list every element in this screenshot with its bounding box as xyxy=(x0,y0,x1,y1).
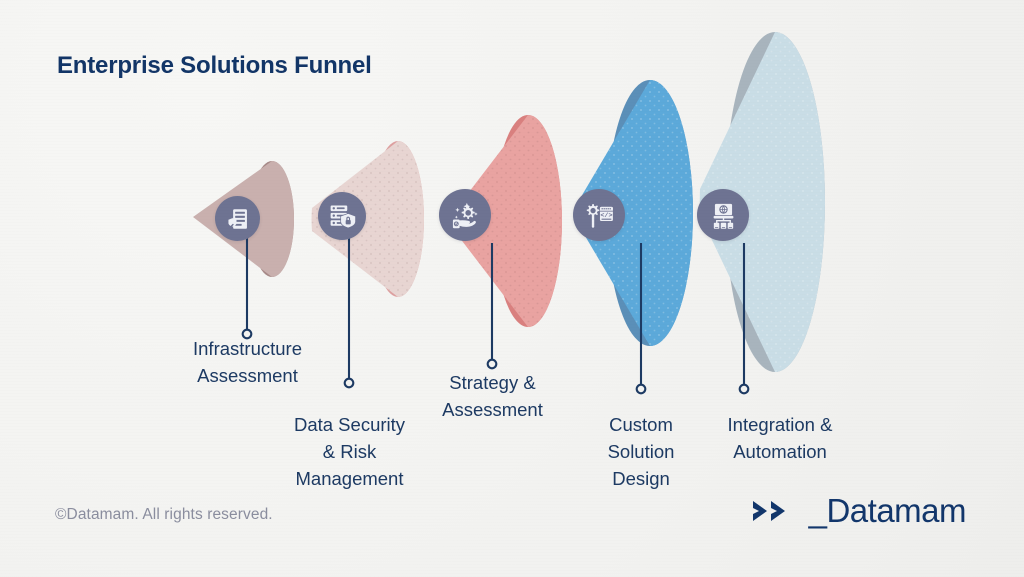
funnel-stage-2-label: Data Security & Risk Management xyxy=(262,412,437,492)
funnel-stage-5-label: Integration & Automation xyxy=(700,412,860,466)
funnel-stage-5-badge[interactable] xyxy=(697,189,749,241)
copyright-text: ©Datamam. All rights reserved. xyxy=(55,506,273,524)
funnel-stage-3-badge[interactable] xyxy=(439,189,491,241)
server-checklist-icon xyxy=(225,206,251,232)
funnel-stage-3-label: Strategy & Assessment xyxy=(405,370,580,424)
server-distribution-nodes-icon xyxy=(708,200,739,231)
funnel-stage-1-label: Infrastructure Assessment xyxy=(160,336,335,390)
hand-gear-sparkle-icon xyxy=(450,200,481,231)
funnel-stage-2-badge[interactable] xyxy=(318,192,366,240)
svg-text:</>: </> xyxy=(600,211,612,219)
server-shield-lock-icon xyxy=(328,202,356,230)
datamam-logo[interactable]: _Datamam xyxy=(751,494,966,527)
funnel-stage-4-label: Custom Solution Design xyxy=(567,412,715,492)
infographic-canvas: Enterprise Solutions Funnel xyxy=(0,0,1024,577)
funnel-stage-1-badge[interactable] xyxy=(215,196,260,241)
logo-wordmark: _Datamam xyxy=(809,494,966,527)
double-chevron-icon xyxy=(751,495,807,527)
funnel-diagram xyxy=(0,0,1024,577)
wrench-gear-code-window-icon: </> xyxy=(584,200,615,231)
funnel-stage-4-badge[interactable]: </> xyxy=(573,189,625,241)
